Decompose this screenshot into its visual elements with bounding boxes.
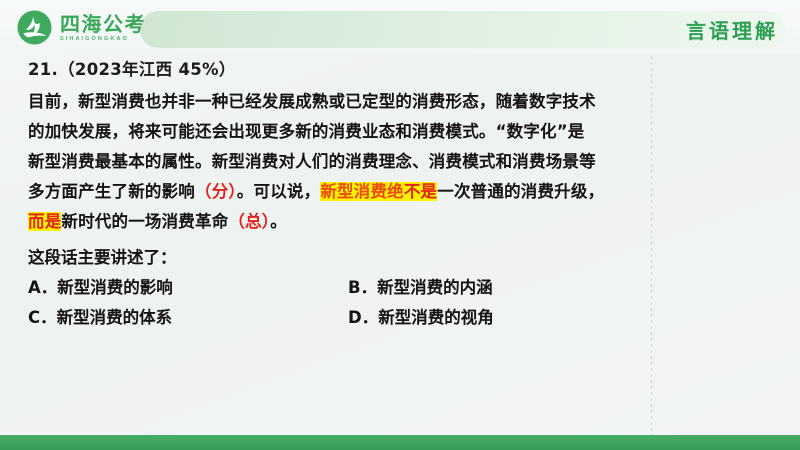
option-a[interactable]: A．新型消费的影响 (28, 273, 348, 303)
question-prompt: 这段话主要讲述了： (28, 243, 646, 273)
option-row: A．新型消费的影响 B．新型消费的内涵 (28, 273, 646, 303)
passage-segment: 新型消费绝 (320, 182, 404, 201)
question-number: 21.（2023年江西 45%） (28, 56, 646, 80)
brand-logo: 四海公考 SIHAIGONGKAO (16, 9, 146, 46)
section-title: 言语理解 (686, 15, 778, 44)
passage-segment: 的加快发展，将来可能还会出现更多新的消费业态和消费模式。“数字化”是 (28, 122, 585, 141)
passage-segment: 不是 (404, 182, 437, 201)
brand-name-cn: 四海公考 (60, 14, 146, 34)
option-c[interactable]: C．新型消费的体系 (28, 303, 348, 333)
option-d[interactable]: D．新型消费的视角 (348, 303, 494, 333)
passage-line: 的加快发展，将来可能还会出现更多新的消费业态和消费模式。“数字化”是 (28, 117, 646, 147)
passage-block: 目前，新型消费也并非一种已经发展成熟或已定型的消费形态，随着数字技术 的加快发展… (28, 87, 646, 237)
footer-bar (0, 435, 800, 450)
passage-line: 多方面产生了新的影响（分）。可以说，新型消费绝不是一次普通的消费升级， (28, 177, 646, 207)
passage-segment: 新型消费最基本的属性。新型消费对人们的消费理念、消费模式和消费场景等 (28, 152, 596, 171)
question-body: 21.（2023年江西 45%） 目前，新型消费也并非一种已经发展成熟或已定型的… (28, 56, 646, 333)
passage-segment: 。可以说， (237, 182, 321, 201)
passage-segment: 目前，新型消费也并非一种已经发展成熟或已定型的消费形态，随着数字技术 (28, 92, 596, 111)
passage-line: 目前，新型消费也并非一种已经发展成熟或已定型的消费形态，随着数字技术 (28, 87, 646, 117)
brand-logo-text: 四海公考 SIHAIGONGKAO (60, 13, 146, 43)
slide-canvas: 四海公考 SIHAIGONGKAO 言语理解 21.（2023年江西 45%） … (0, 0, 800, 450)
passage-line: 而是新时代的一场消费革命（总）。 (28, 207, 646, 237)
option-row: C．新型消费的体系 D．新型消费的视角 (28, 303, 646, 333)
passage-segment: 多方面产生了新的影响 (28, 182, 195, 201)
slide-header: 四海公考 SIHAIGONGKAO 言语理解 (0, 0, 800, 54)
passage-segment: 而是 (28, 212, 61, 231)
passage-segment: （总） (228, 212, 270, 231)
passage-line: 新型消费最基本的属性。新型消费对人们的消费理念、消费模式和消费场景等 (28, 147, 646, 177)
vertical-dotted-divider (651, 56, 652, 436)
passage-segment: （分） (195, 182, 237, 201)
passage-segment: 。 (270, 212, 287, 231)
leaf-circle-logo-icon (16, 9, 53, 46)
option-b[interactable]: B．新型消费的内涵 (348, 273, 493, 303)
passage-segment: 一次普通的消费升级， (437, 182, 604, 201)
passage-segment: 新时代的一场消费革命 (61, 212, 228, 231)
brand-name-en: SIHAIGONGKAO (60, 37, 146, 43)
